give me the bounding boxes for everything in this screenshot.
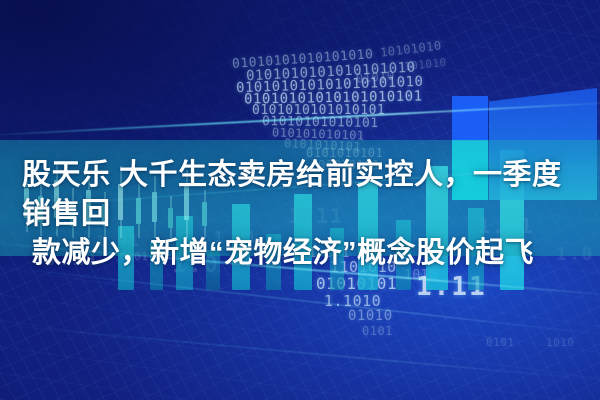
headline-line-2: 款减少，新增“宠物经济”概念股价起飞 <box>22 234 578 273</box>
news-banner-image: 01010101010101010 0101010101010101010 01… <box>0 0 600 400</box>
headline-text: 股天乐 大千生态卖房给前实控人，一季度销售回 款减少，新增“宠物经济”概念股价起… <box>0 156 600 273</box>
headline-line-1: 股天乐 大千生态卖房给前实控人，一季度销售回 <box>22 156 578 234</box>
